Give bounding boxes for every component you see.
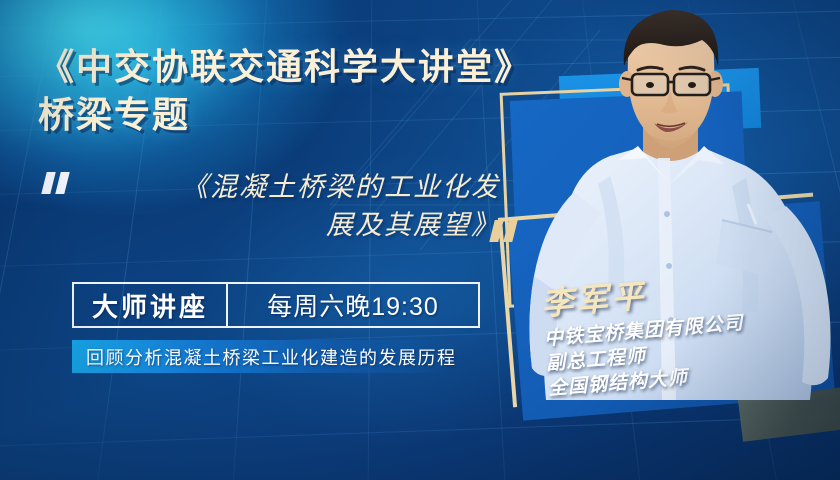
tagline-text: 回顾分析混凝土桥梁工业化建造的发展历程 bbox=[72, 344, 457, 370]
quote-open-icon bbox=[44, 172, 74, 194]
name-card-gold-edge bbox=[498, 193, 828, 408]
speaker-name-card bbox=[498, 193, 828, 408]
subtitle-line2: 展及其展望》 bbox=[40, 206, 540, 244]
subtitle-line1: 《混凝土桥梁的工业化发 bbox=[40, 168, 540, 206]
lecture-schedule: 每周六晚19:30 bbox=[228, 284, 478, 326]
lecture-type-label: 大师讲座 bbox=[74, 284, 228, 326]
main-title-line2: 桥梁专题 bbox=[38, 92, 538, 138]
main-title-line1: 《中交协联交通科学大讲堂》 bbox=[38, 44, 538, 90]
lecture-info-box: 大师讲座 每周六晚19:30 bbox=[72, 282, 480, 328]
tagline-bar: 回顾分析混凝土桥梁工业化建造的发展历程 bbox=[72, 340, 450, 373]
title-block: 《中交协联交通科学大讲堂》 桥梁专题 bbox=[38, 44, 538, 138]
lecture-poster: 李军平 中铁宝桥集团有限公司 副总工程师 全国钢结构大师 《中交协联交通科学大讲… bbox=[0, 0, 840, 480]
subtitle-block: 《混凝土桥梁的工业化发 展及其展望》 bbox=[40, 168, 540, 245]
quote-close-icon bbox=[492, 220, 522, 242]
